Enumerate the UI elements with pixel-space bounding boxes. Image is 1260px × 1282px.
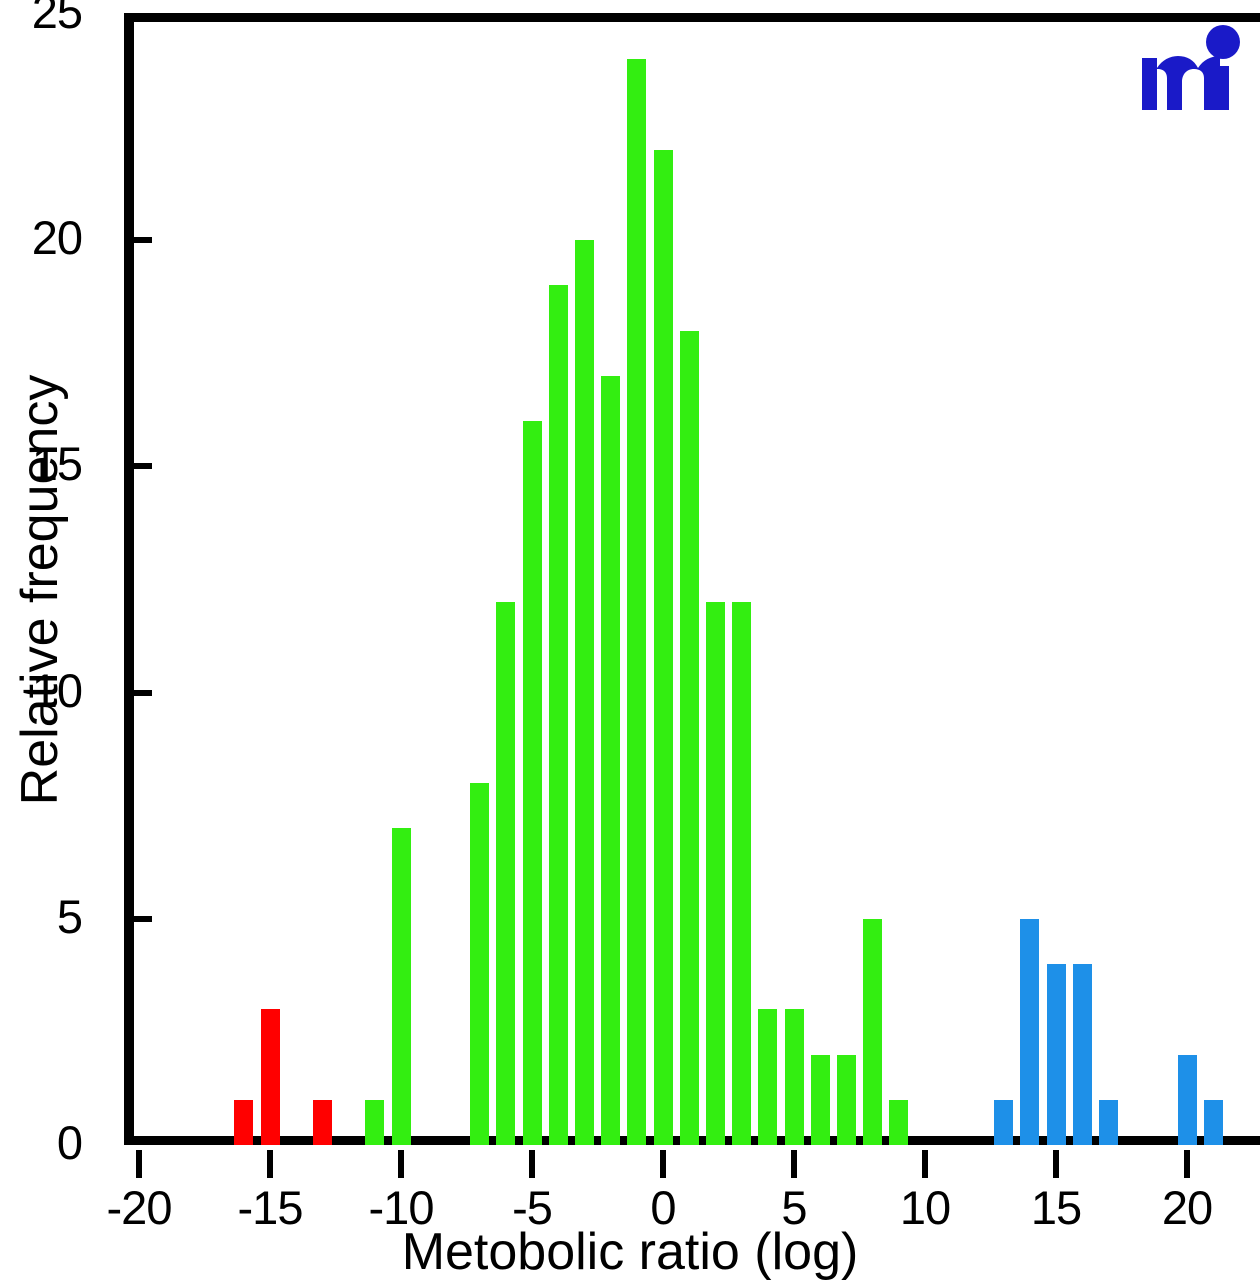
x-axis-tick: [136, 1150, 142, 1178]
bar: [313, 1100, 332, 1145]
x-axis-title: Metobolic ratio (log): [0, 1222, 1260, 1282]
x-axis-tick: [1184, 1150, 1190, 1178]
bar: [496, 602, 515, 1145]
y-axis-tick: [124, 237, 152, 243]
bar: [601, 376, 620, 1145]
y-axis-tick: [124, 916, 152, 922]
bar: [1178, 1055, 1197, 1146]
chart-root: 0510152025 Relative frequency -20-15-10-…: [0, 0, 1260, 1280]
y-axis-tick-label: 25: [32, 0, 82, 39]
y-axis-title: Relative frequency: [10, 190, 70, 990]
y-axis-tick-label: 0: [57, 1115, 82, 1170]
bar: [1204, 1100, 1223, 1145]
bar: [392, 828, 411, 1145]
bar: [523, 421, 542, 1145]
bar: [1099, 1100, 1118, 1145]
bar: [863, 919, 882, 1145]
bar: [732, 602, 751, 1145]
plot-area: [134, 22, 1260, 1145]
bar: [785, 1009, 804, 1145]
bar: [261, 1009, 280, 1145]
x-axis-tick: [398, 1150, 404, 1178]
bar: [365, 1100, 384, 1145]
y-axis-tick: [124, 690, 152, 696]
bar: [1047, 964, 1066, 1145]
bar: [1073, 964, 1092, 1145]
bar: [627, 59, 646, 1145]
bar: [1020, 919, 1039, 1145]
bar: [575, 240, 594, 1145]
bar: [837, 1055, 856, 1146]
x-axis-tick: [922, 1150, 928, 1178]
bar: [811, 1055, 830, 1146]
x-axis-tick: [1053, 1150, 1059, 1178]
x-axis-tick: [791, 1150, 797, 1178]
mi-logo-icon: [1140, 22, 1244, 114]
x-axis-tick: [529, 1150, 535, 1178]
bar: [680, 331, 699, 1146]
x-axis-tick: [660, 1150, 666, 1178]
x-axis-tick: [267, 1150, 273, 1178]
bar: [234, 1100, 253, 1145]
bar: [654, 150, 673, 1146]
bar: [706, 602, 725, 1145]
bar: [758, 1009, 777, 1145]
bar: [994, 1100, 1013, 1145]
y-axis-tick: [124, 463, 152, 469]
bar: [889, 1100, 908, 1145]
bar: [549, 285, 568, 1145]
bar: [470, 783, 489, 1145]
